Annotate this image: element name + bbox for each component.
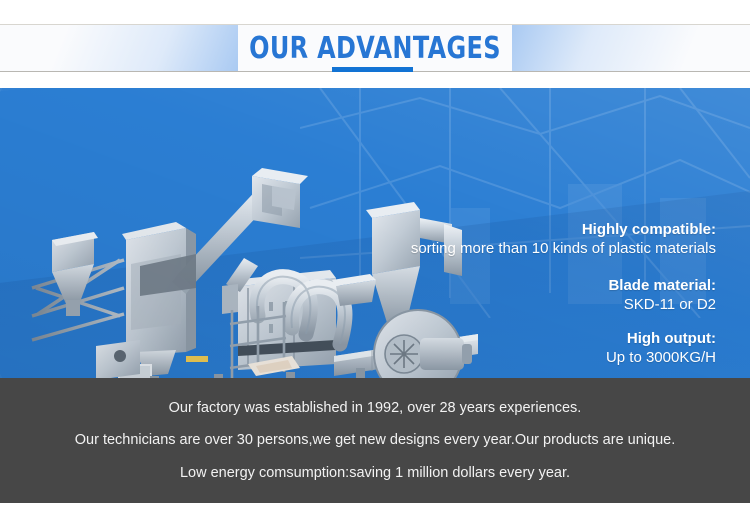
- advantages-banner: OUR ADVANTAGES: [0, 0, 750, 524]
- feature-1-label: Highly compatible:: [411, 220, 716, 239]
- feature-2-value: SKD-11 or D2: [608, 295, 716, 314]
- feature-3-value: Up to 3000KG/H: [606, 348, 716, 367]
- hero-panel: Highly compatible: sorting more than 10 …: [0, 88, 750, 378]
- title-underline: [332, 67, 413, 72]
- feature-3-label: High output:: [606, 329, 716, 348]
- feature-3: High output: Up to 3000KG/H: [606, 329, 716, 367]
- section-footer: Our factory was established in 1992, ove…: [0, 378, 750, 503]
- feature-2: Blade material: SKD-11 or D2: [608, 276, 716, 314]
- feature-1-value: sorting more than 10 kinds of plastic ma…: [411, 239, 716, 258]
- bottom-spacer: [0, 503, 750, 524]
- feature-1: Highly compatible: sorting more than 10 …: [411, 220, 716, 258]
- footer-line-3: Low energy comsumption:saving 1 million …: [180, 466, 570, 481]
- footer-line-2: Our technicians are over 30 persons,we g…: [75, 433, 675, 448]
- page-title: OUR ADVANTAGES: [75, 25, 675, 71]
- section-header: OUR ADVANTAGES: [0, 0, 750, 88]
- footer-line-1: Our factory was established in 1992, ove…: [169, 401, 582, 416]
- feature-2-label: Blade material:: [608, 276, 716, 295]
